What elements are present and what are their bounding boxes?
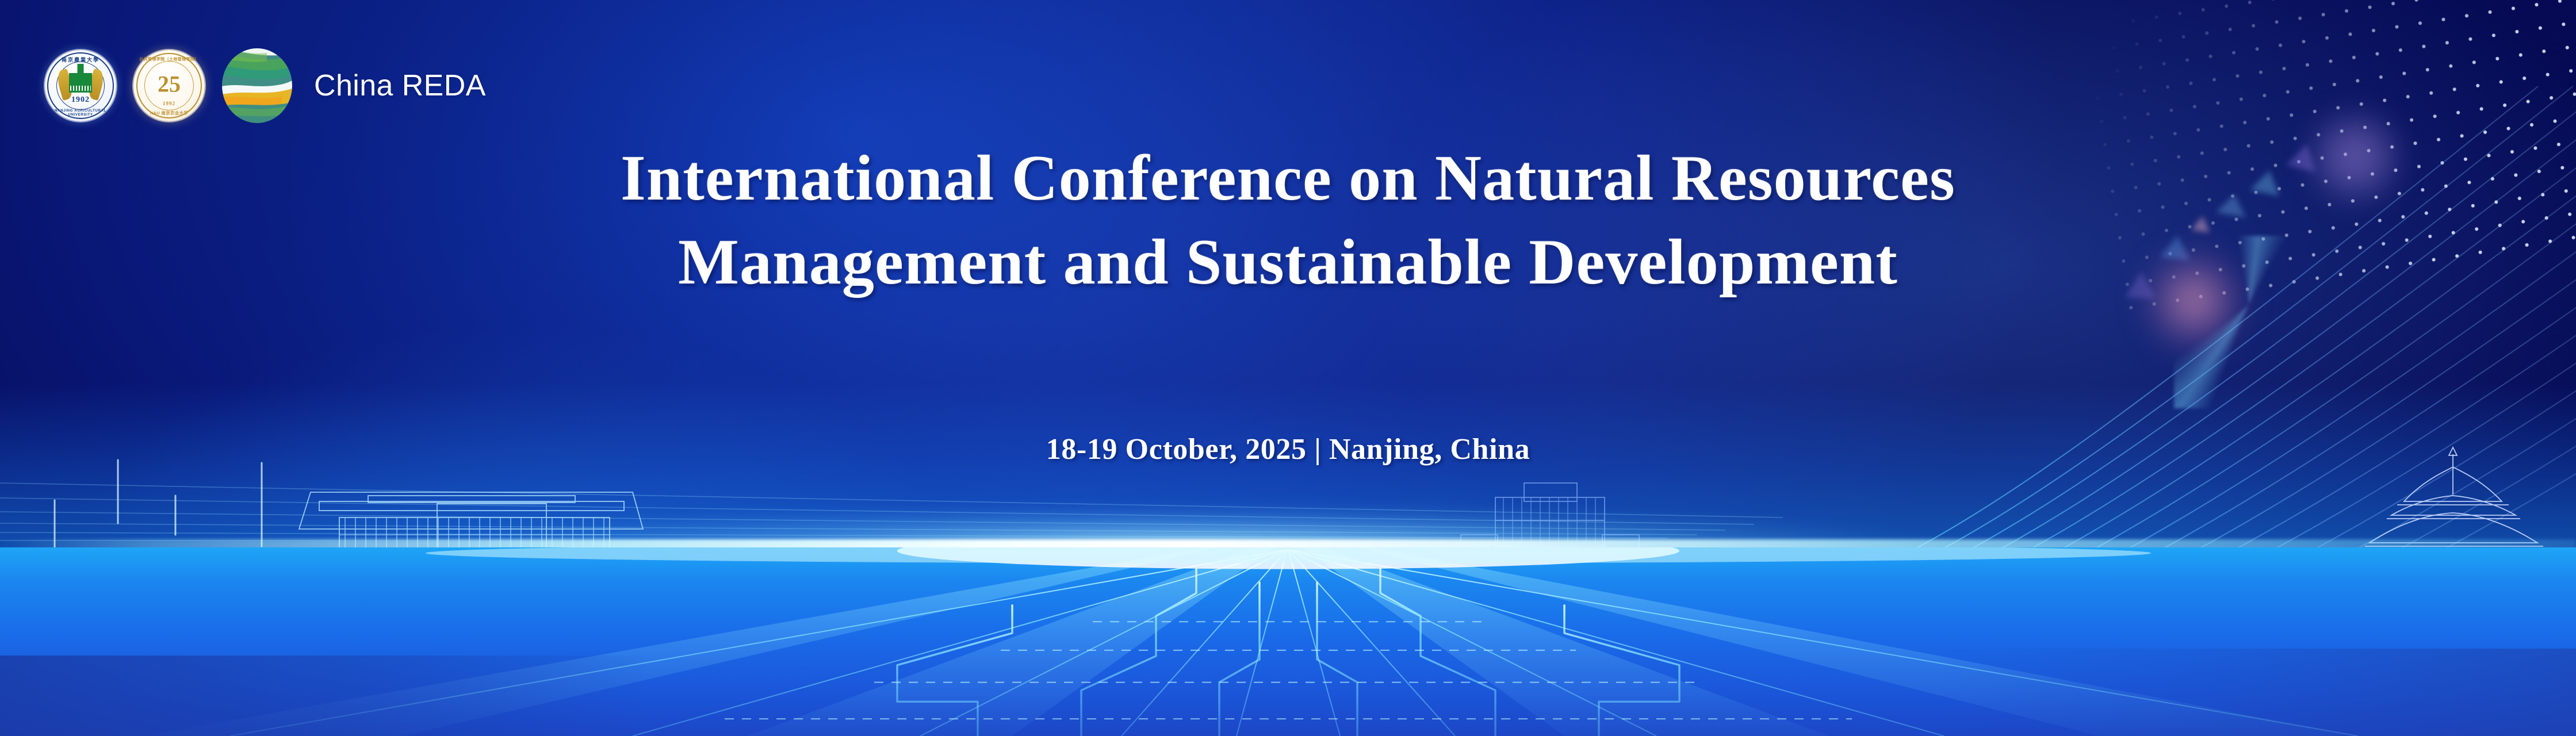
logo-bar: 南京農業大學 1902 NANJING AGRICULTURAL UNIVERS… [45, 48, 486, 123]
seal-bottom-text: NANJING AGRICULTURAL UNIVERSITY [45, 109, 116, 117]
conference-date-location: 18-19 October, 2025 | Nanjing, China [0, 432, 2576, 466]
title-line-2: Management and Sustainable Development [0, 221, 2576, 305]
gold-seal-bottom-text: NAU 南京农业大学 [133, 110, 205, 116]
china-reda-globe-icon [222, 48, 292, 123]
conference-title: International Conference on Natural Reso… [0, 137, 2576, 304]
nau-college-public-administration-logo: 公共管理学院（土地管理学院） 25 1992 NAU 南京农业大学 [133, 50, 205, 121]
nanjing-agricultural-university-logo: 南京農業大學 1902 NANJING AGRICULTURAL UNIVERS… [45, 50, 116, 121]
gold-seal-year: 1992 [133, 101, 205, 106]
conference-banner: 南京農業大學 1902 NANJING AGRICULTURAL UNIVERS… [0, 0, 2576, 736]
title-line-1: International Conference on Natural Reso… [0, 137, 2576, 221]
campus-building-icon [69, 73, 92, 93]
banner-content: 南京農業大學 1902 NANJING AGRICULTURAL UNIVERS… [0, 0, 2576, 736]
seal-year: 1902 [45, 96, 116, 104]
gold-seal-top-text: 公共管理学院（土地管理学院） [133, 56, 205, 62]
china-reda-wordmark: China REDA [314, 68, 486, 103]
seal-top-text: 南京農業大學 [45, 56, 116, 63]
gold-seal-monogram: 25 [158, 73, 181, 96]
